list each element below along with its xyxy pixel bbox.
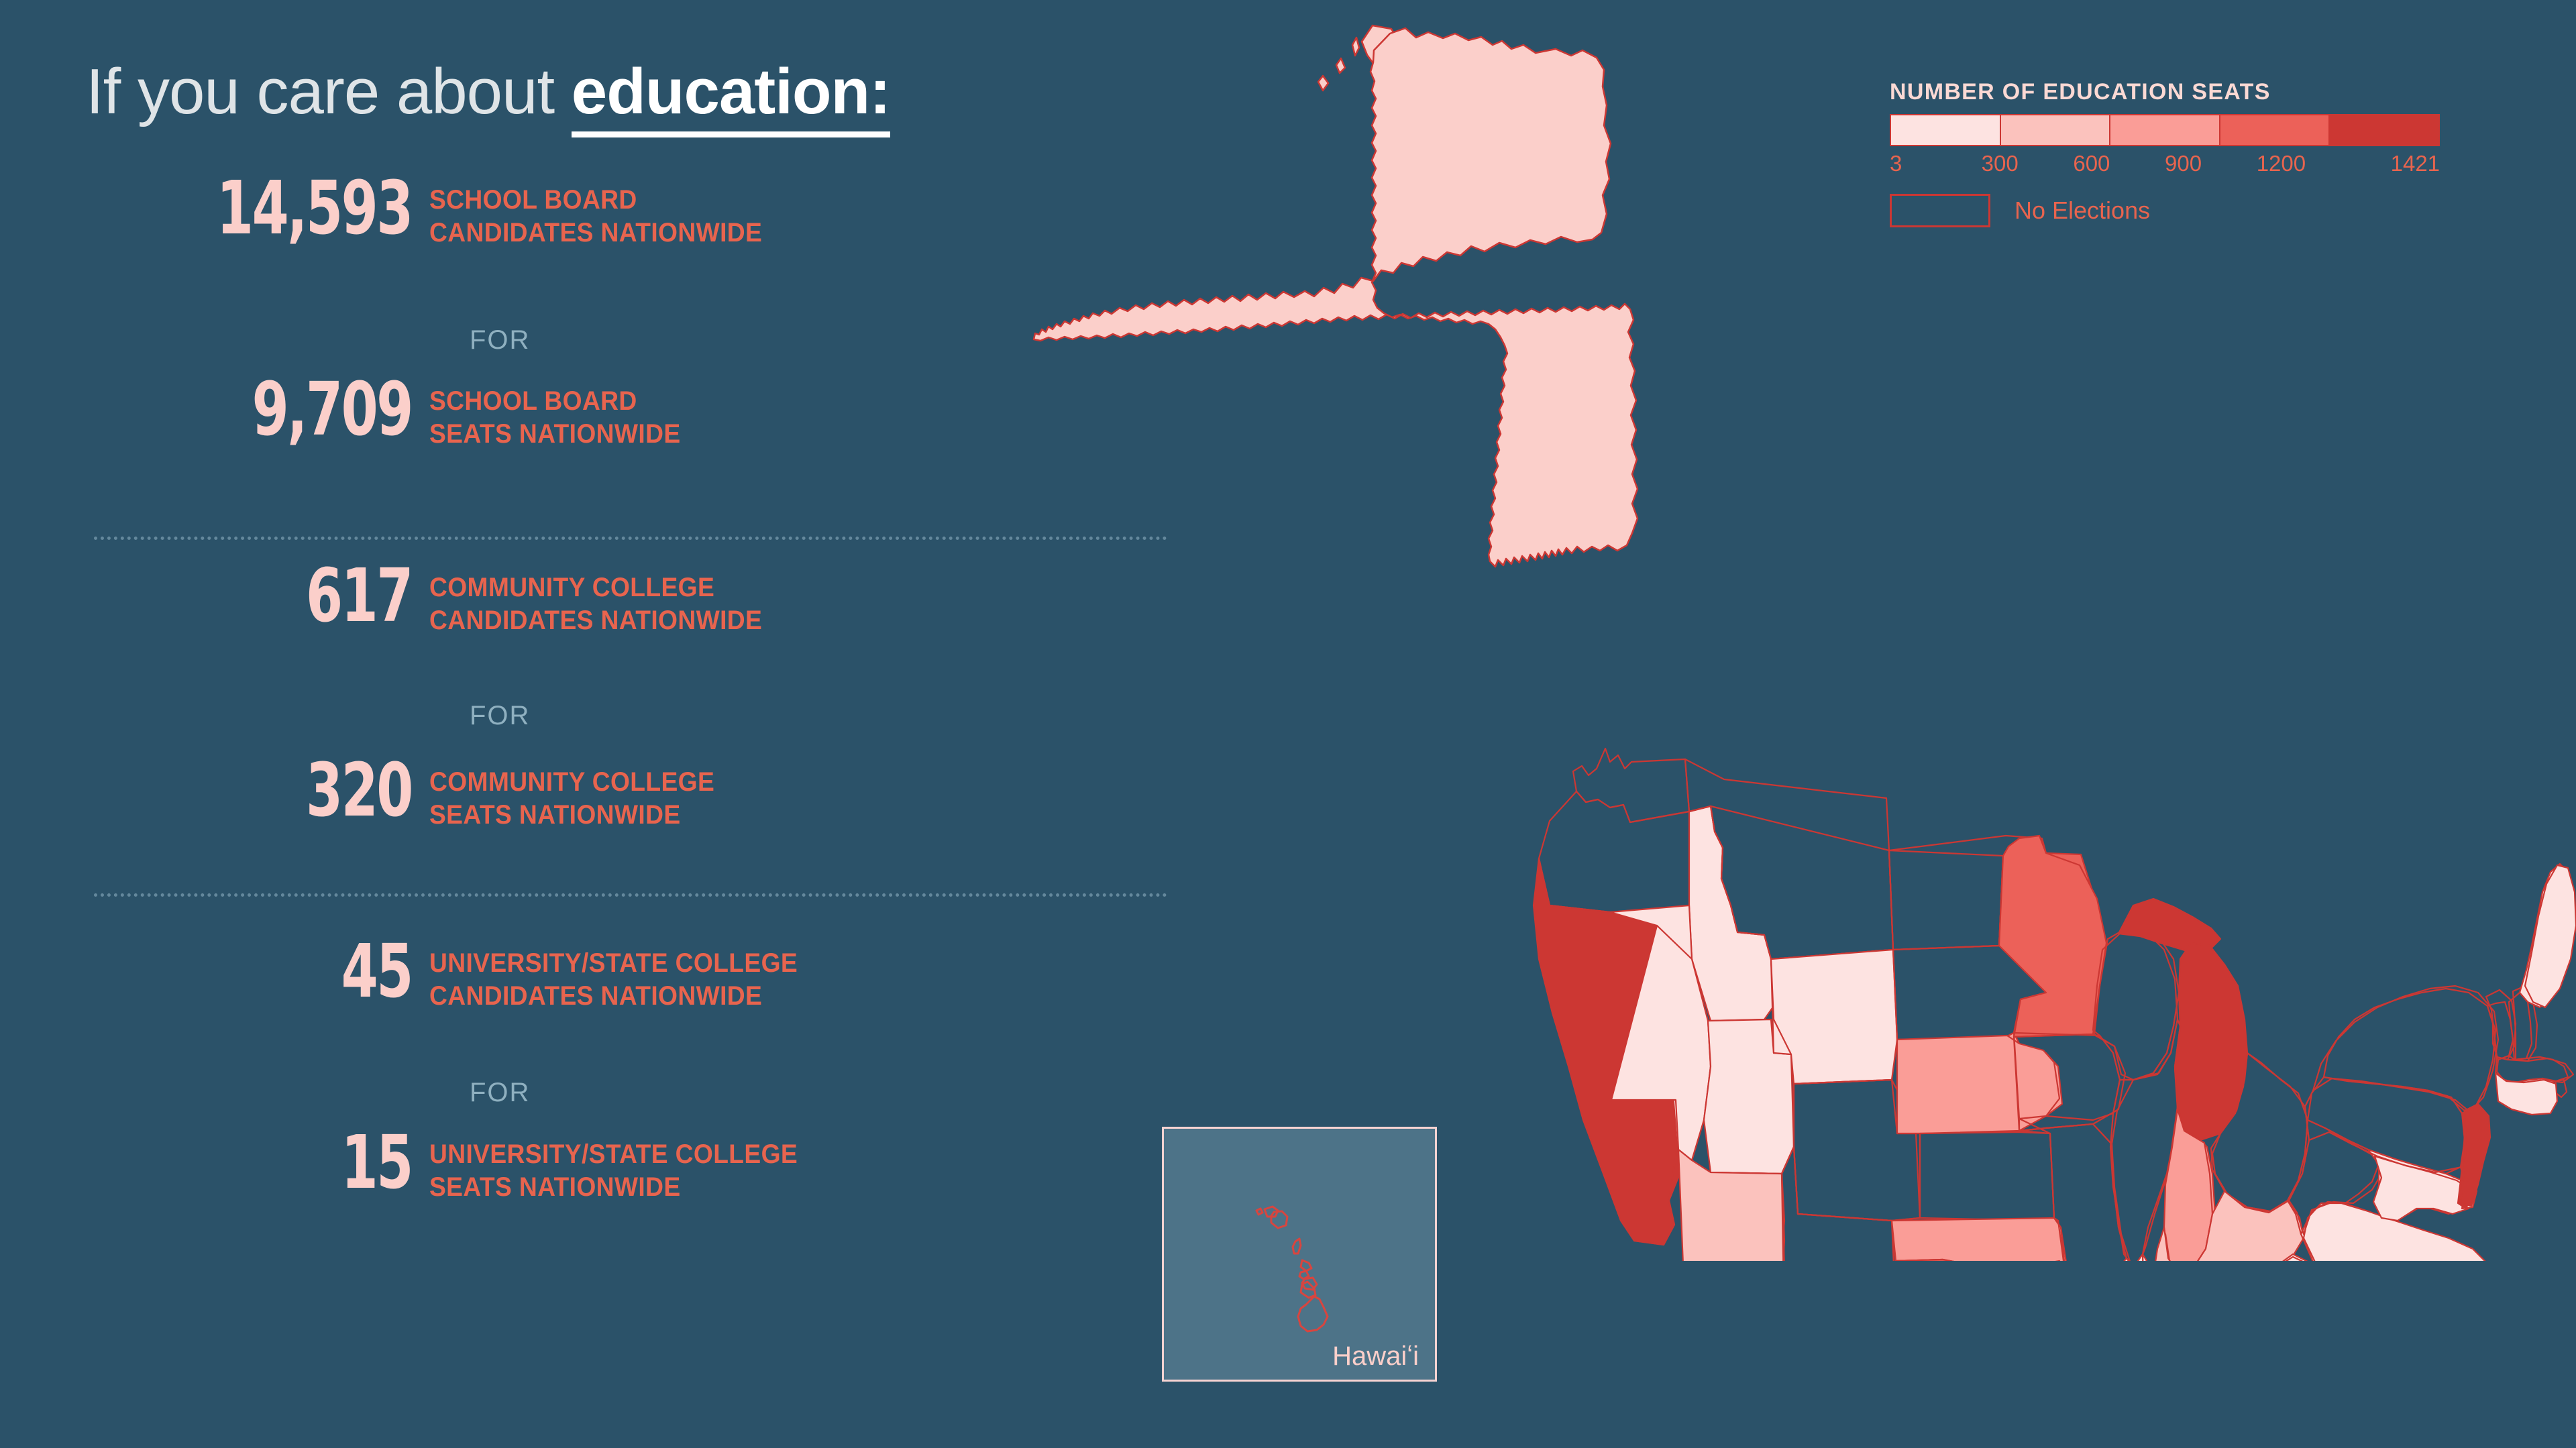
- stat-label-line1: SCHOOL BOARD: [429, 385, 681, 418]
- state-MI-up: [2118, 899, 2220, 951]
- legend-tick-labels: 3 300 600 900 1200 1421: [1890, 151, 2440, 176]
- state-NY: [2324, 989, 2495, 1113]
- no-elections-legend-row: No Elections: [1890, 194, 2440, 227]
- state-WI-fill: [2094, 928, 2178, 1080]
- state-ID: [1689, 806, 1774, 1021]
- connector-for: FOR: [470, 701, 530, 731]
- legend-tick: 1421: [2348, 151, 2440, 176]
- legend-swatch-1: [2001, 115, 2111, 145]
- stat-label-line1: COMMUNITY COLLEGE: [429, 571, 762, 604]
- state-NM: [1780, 1147, 1898, 1261]
- stat-label-line2: SEATS NATIONWIDE: [429, 418, 681, 451]
- legend-swatch-3: [2220, 115, 2330, 145]
- state-WA: [1573, 748, 1689, 822]
- us-choropleth-map: [1509, 704, 2576, 1261]
- alaska-map: [1026, 7, 1737, 610]
- state-KS: [1920, 1132, 2054, 1221]
- stat-label: UNIVERSITY/STATE COLLEGE CANDIDATES NATI…: [429, 938, 798, 1013]
- stat-number: 45: [83, 938, 412, 1005]
- legend-swatch-0: [1891, 115, 2001, 145]
- page-title: If you care about education:: [86, 55, 890, 129]
- state-AK-main: [1034, 28, 1638, 567]
- stat-row: 45 UNIVERSITY/STATE COLLEGE CANDIDATES N…: [0, 938, 825, 1013]
- stat-label-line1: UNIVERSITY/STATE COLLEGE: [429, 1138, 798, 1171]
- stat-number: 320: [83, 757, 412, 824]
- stat-label: SCHOOL BOARD SEATS NATIONWIDE: [429, 376, 681, 451]
- legend-swatch-2: [2110, 115, 2220, 145]
- stat-label-line1: UNIVERSITY/STATE COLLEGE: [429, 947, 798, 980]
- stat-label: SCHOOL BOARD CANDIDATES NATIONWIDE: [429, 174, 762, 249]
- legend-colorbar: [1890, 114, 2440, 146]
- stat-label-line1: COMMUNITY COLLEGE: [429, 766, 714, 799]
- stat-number: 15: [83, 1129, 412, 1196]
- headline-emphasis: education:: [572, 56, 890, 137]
- legend-tick: 300: [1982, 151, 2074, 176]
- stat-label-line2: SEATS NATIONWIDE: [429, 799, 714, 832]
- stat-number: 617: [83, 562, 412, 630]
- island-oahu: [1271, 1211, 1287, 1228]
- stat-label: UNIVERSITY/STATE COLLEGE SEATS NATIONWID…: [429, 1129, 798, 1204]
- stat-row: 9,709 SCHOOL BOARD SEATS NATIONWIDE: [0, 376, 700, 451]
- state-NJ-fill: [2461, 1104, 2490, 1206]
- island-hawaii: [1298, 1296, 1328, 1331]
- legend-tick: 1200: [2257, 151, 2349, 176]
- island-niihau: [1256, 1209, 1263, 1215]
- state-ND: [1889, 850, 2003, 950]
- connector-for: FOR: [470, 1078, 530, 1108]
- stat-row: 320 COMMUNITY COLLEGE SEATS NATIONWIDE: [0, 757, 736, 832]
- hawaii-inset: Hawaiʻi: [1162, 1127, 1437, 1382]
- state-AR: [2063, 1254, 2147, 1261]
- state-NY-fill: [2313, 986, 2498, 1112]
- state-NM-fill: [1782, 1147, 1898, 1261]
- legend-tick: 600: [2073, 151, 2165, 176]
- hawaii-label: Hawaiʻi: [1332, 1341, 1419, 1372]
- state-MD-fill: [2373, 1156, 2473, 1221]
- island-molokai: [1293, 1239, 1301, 1254]
- legend-tick: 900: [2165, 151, 2257, 176]
- stat-row: 617 COMMUNITY COLLEGE CANDIDATES NATIONW…: [0, 562, 788, 637]
- legend-title: NUMBER OF EDUCATION SEATS: [1890, 79, 2440, 105]
- state-OK-fill: [1892, 1218, 2066, 1261]
- section-divider: [94, 893, 1167, 897]
- state-OR: [1539, 791, 1692, 912]
- stat-label: COMMUNITY COLLEGE SEATS NATIONWIDE: [429, 757, 714, 832]
- stat-label-line1: SCHOOL BOARD: [429, 184, 762, 217]
- stat-label-line2: SEATS NATIONWIDE: [429, 1171, 798, 1204]
- stat-number: 14,593: [83, 174, 412, 242]
- stat-number: 9,709: [83, 376, 412, 443]
- no-elections-swatch: [1890, 194, 1990, 227]
- state-ME-fill: [2525, 865, 2576, 1007]
- stat-row: 14,593 SCHOOL BOARD CANDIDATES NATIONWID…: [0, 174, 788, 249]
- stat-label: COMMUNITY COLLEGE CANDIDATES NATIONWIDE: [429, 562, 762, 637]
- island-lanai: [1301, 1260, 1311, 1271]
- no-elections-label: No Elections: [2015, 197, 2150, 225]
- map-legend: NUMBER OF EDUCATION SEATS 3 300 600 900 …: [1890, 79, 2440, 227]
- legend-tick: 3: [1890, 151, 1982, 176]
- connector-for: FOR: [470, 325, 530, 355]
- section-divider: [94, 537, 1167, 540]
- stat-row: 15 UNIVERSITY/STATE COLLEGE SEATS NATION…: [0, 1129, 825, 1204]
- legend-swatch-4: [2330, 115, 2438, 145]
- state-NE-fill: [1897, 1036, 2059, 1133]
- headline-prefix: If you care about: [86, 56, 572, 127]
- state-MN-fill: [1999, 836, 2106, 1037]
- stat-label-line2: CANDIDATES NATIONWIDE: [429, 217, 762, 249]
- stat-label-line2: CANDIDATES NATIONWIDE: [429, 980, 798, 1013]
- stat-label-line2: CANDIDATES NATIONWIDE: [429, 604, 762, 637]
